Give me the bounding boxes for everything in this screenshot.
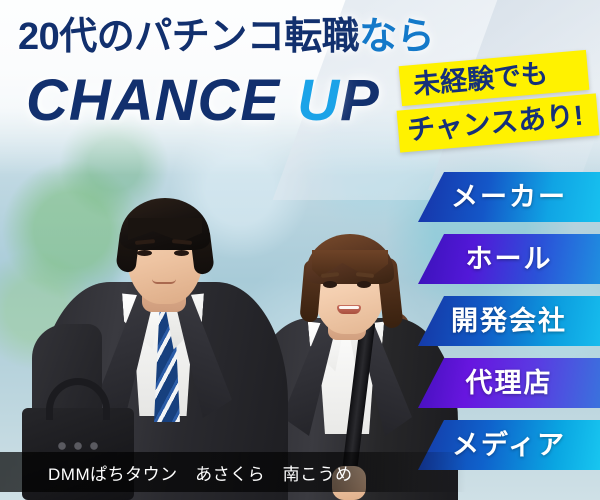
ribbon-maker[interactable]: メーカー: [418, 172, 600, 222]
credit-text: DMMぱちタウン あさくら 南こうめ: [0, 460, 353, 485]
woman-teeth: [339, 306, 359, 310]
credit-bar: DMMぱちタウン あさくら 南こうめ: [0, 452, 466, 492]
man-eye-right: [174, 250, 189, 256]
ribbon-label: メディア: [452, 432, 566, 459]
woman-eye-right: [357, 281, 371, 288]
logo-letter-p: P: [340, 68, 380, 133]
ribbon-developer[interactable]: 開発会社: [418, 296, 600, 346]
ribbon-label: メーカー: [451, 184, 567, 211]
ribbon-hall[interactable]: ホール: [418, 234, 600, 284]
advertisement-banner[interactable]: 20代のパチンコ転職なら CHANCE UP 未経験でも チャンスあり! メーカ…: [0, 0, 600, 500]
logo-word-chance: CHANCE: [26, 68, 280, 133]
woman-eye-left: [323, 281, 337, 288]
headline-suffix: なら: [359, 16, 434, 58]
chance-up-logo: CHANCE UP: [26, 72, 380, 130]
ribbon-agency[interactable]: 代理店: [418, 358, 600, 408]
headline: 20代のパチンコ転職なら: [18, 18, 434, 56]
man-mouth: [152, 279, 176, 284]
man-eye-left: [137, 250, 152, 256]
experience-badge: 未経験でも チャンスあり!: [398, 56, 600, 164]
ribbon-label: 代理店: [466, 370, 553, 397]
headline-main: 20代のパチンコ転職: [18, 16, 359, 58]
ribbon-label: 開発会社: [451, 308, 567, 335]
category-ribbon-list: メーカー ホール 開発会社 代理店 メディア: [418, 172, 600, 488]
briefcase-studs: [56, 442, 100, 451]
ribbon-label: ホール: [466, 246, 553, 273]
logo-letter-u: U: [297, 68, 340, 133]
